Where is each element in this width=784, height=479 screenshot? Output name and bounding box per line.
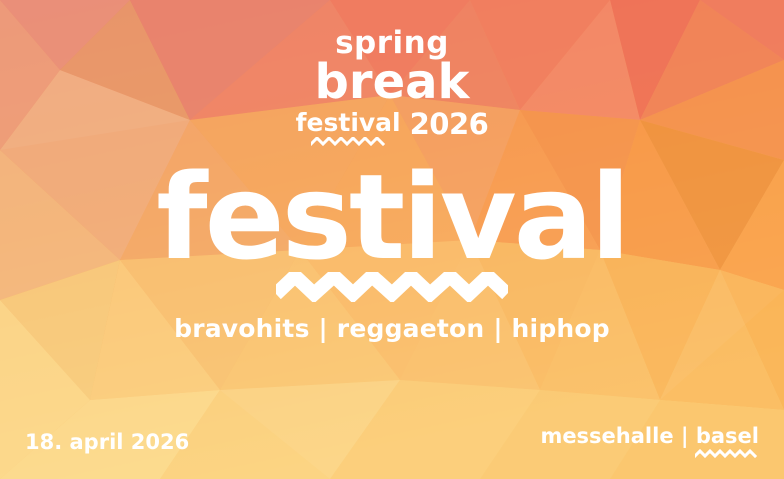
logo-bottom-row: festival 2026 — [296, 110, 489, 146]
venue-label: messehalle | basel — [540, 426, 759, 447]
venue-block: messehalle | basel — [540, 426, 759, 458]
logo-year: 2026 — [410, 110, 489, 139]
logo-line-festival: festival — [296, 110, 401, 135]
spring-break-logo: spring break festival 2026 — [0, 28, 784, 146]
genre-tagline: bravohits | reggaeton | hiphop — [0, 316, 784, 341]
logo-line-break: break — [315, 58, 470, 106]
main-wordmark: festival — [0, 158, 784, 276]
zigzag-divider-icon — [311, 137, 385, 146]
festival-poster: spring break festival 2026 festival brav… — [0, 0, 784, 479]
logo-festival-wrap: festival — [296, 110, 401, 146]
venue-zigzag-divider-icon — [695, 449, 757, 458]
event-date: 18. april 2026 — [25, 432, 189, 453]
main-zigzag-divider-icon — [276, 272, 508, 302]
